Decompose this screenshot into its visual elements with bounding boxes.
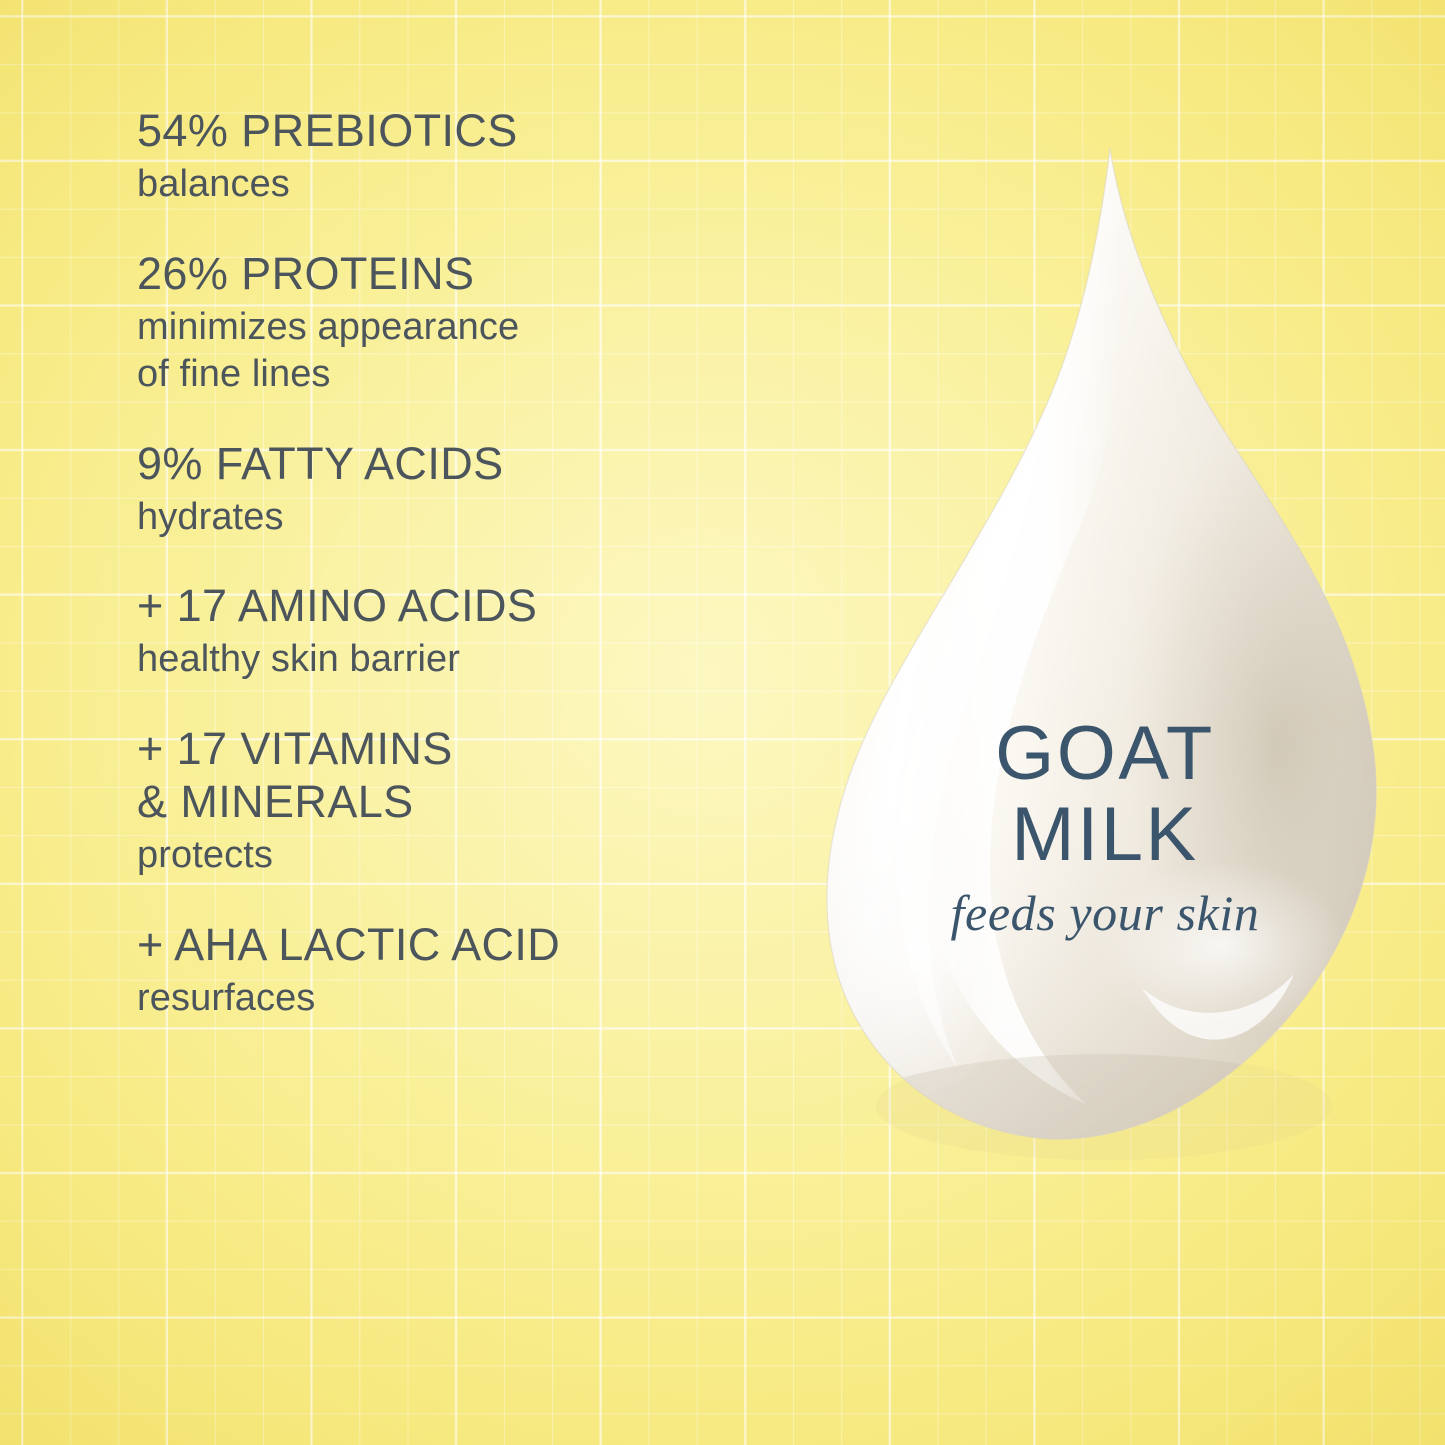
benefit-subtext: balances (137, 161, 817, 209)
benefit-item-aha-lactic-acid: + AHA LACTIC ACID resurfaces (137, 918, 817, 1023)
droplet-body (784, 106, 1444, 1238)
benefit-subtext: minimizes appearance of fine lines (137, 304, 817, 399)
droplet-bounce-light (1096, 860, 1348, 1032)
benefit-subtext: hydrates (137, 494, 817, 542)
benefit-item-proteins: 26% PROTEINS minimizes appearance of fin… (137, 247, 817, 399)
benefit-item-prebiotics: 54% PREBIOTICS balances (137, 104, 817, 209)
benefit-subtext: resurfaces (137, 975, 817, 1023)
benefit-headline: + 17 AMINO ACIDS (137, 579, 817, 632)
benefits-list: 54% PREBIOTICS balances 26% PROTEINS min… (137, 104, 817, 1022)
benefit-headline: 9% FATTY ACIDS (137, 437, 817, 490)
milk-droplet-illustration (824, 146, 1384, 1158)
product-benefits-graphic: GOAT MILK feeds your skin 54% PREBIOTICS… (0, 0, 1445, 1445)
benefit-headline: 26% PROTEINS (137, 247, 817, 300)
benefit-subtext: protects (137, 832, 817, 880)
benefit-headline: + 17 VITAMINS & MINERALS (137, 722, 817, 828)
benefit-item-fatty-acids: 9% FATTY ACIDS hydrates (137, 437, 817, 542)
benefit-item-amino-acids: + 17 AMINO ACIDS healthy skin barrier (137, 579, 817, 684)
droplet-rim-left (824, 802, 1016, 1102)
benefit-item-vitamins-minerals: + 17 VITAMINS & MINERALS protects (137, 722, 817, 880)
benefit-subtext: healthy skin barrier (137, 636, 817, 684)
benefit-headline: + AHA LACTIC ACID (137, 918, 817, 971)
benefit-headline: 54% PREBIOTICS (137, 104, 817, 157)
